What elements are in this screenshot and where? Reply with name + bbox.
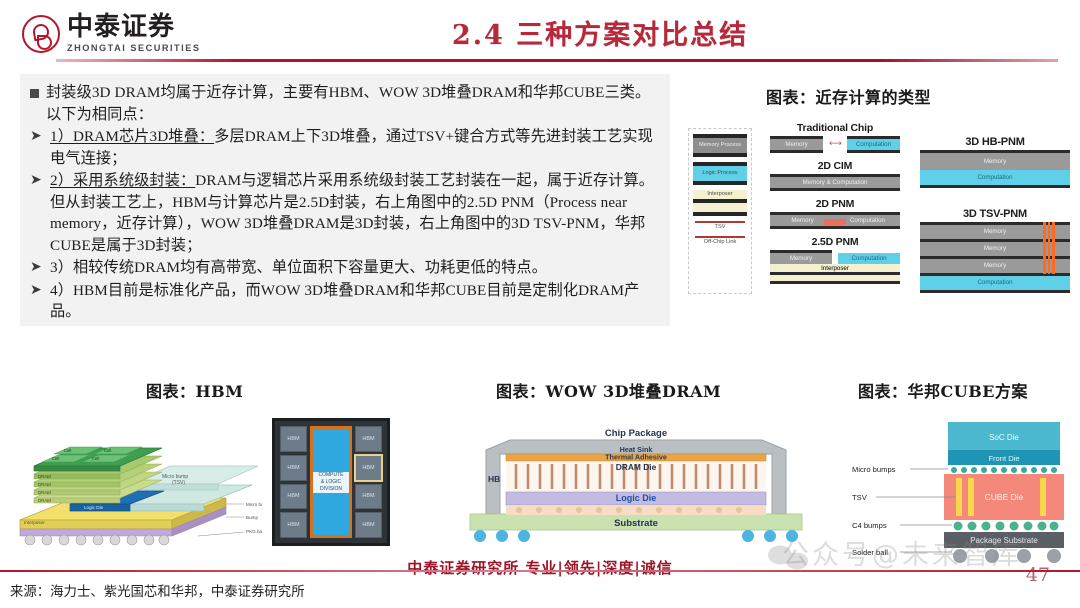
hbm-block: HBM: [355, 484, 382, 510]
hbm-3d-stack-illustration: Micro bump (TSV) Logic Die PHY die DRAM …: [12, 412, 262, 547]
cube-annotation-tsv: TSV: [852, 493, 868, 502]
wow-cross-section-svg: Chip Package Heat Sink Thermal Adhesive …: [464, 418, 808, 548]
cube-annotation-c4-bumps: C4 bumps: [852, 521, 887, 530]
cube-annotation-micro-bumps: Micro bumps: [852, 465, 896, 474]
list-item: ➤ 4）HBM目前是标准化产品，而WOW 3D堆叠DRAM和华邦CUBE目前是定…: [30, 280, 662, 323]
point-text: 4）HBM目前是标准化产品，而WOW 3D堆叠DRAM和华邦CUBE目前是定制化…: [50, 282, 639, 321]
square-bullet-icon: [30, 89, 39, 98]
page-number: 47: [1026, 564, 1050, 586]
cube-label-front-die: Front Die: [988, 454, 1019, 463]
figure-caption: 图表：近存计算的类型: [766, 84, 931, 108]
point-underline: 2）采用系统级封装：: [50, 172, 195, 189]
hbm-block: HBM: [280, 512, 307, 538]
summary-text-panel: 封装级3D DRAM均属于近存计算，主要有HBM、WOW 3D堆叠DRAM和华邦…: [20, 74, 670, 326]
point-underline: 1）DRAM芯片3D堆叠：: [50, 128, 214, 145]
hbm-core-inner: COMPUTE & LOGIC DIVISION: [313, 429, 349, 535]
block-title: 2D CIM: [770, 160, 900, 172]
figure-caption: 图表：WOW 3D堆叠DRAM: [496, 378, 721, 402]
hbm-column-right: HBM HBM HBM HBM: [355, 426, 382, 538]
wow-label-dram-die: DRAM Die: [616, 462, 657, 472]
legend-label: Interposer: [707, 191, 732, 198]
segment-label: Memory: [770, 139, 823, 150]
svg-text:Interposer: Interposer: [24, 520, 45, 525]
hbm-stack-svg: Micro bump (TSV) Logic Die PHY die DRAM …: [12, 412, 262, 547]
lead-bold-text: 封装级3D DRAM均属于近存计算，主要有HBM、WOW 3D堆叠DRAM和华邦…: [46, 84, 650, 101]
pnm-block-3d-hb-pnm: 3D HB-PNM Memory Computation: [920, 136, 1070, 188]
block-title: 3D TSV-PNM: [920, 208, 1070, 220]
svg-text:DRAM: DRAM: [38, 498, 51, 503]
cube-annotation-solder-ball: Solder ball: [852, 548, 888, 557]
pnm-column-right: 3D HB-PNM Memory Computation 3D TSV-PNM …: [920, 136, 1070, 300]
cube-cross-section: SoC Die Front Die CUBE Die: [848, 414, 1074, 564]
wow-label-chip-package: Chip Package: [605, 428, 667, 439]
pnm-legend: Memory Process Logic Process Interposer: [688, 128, 752, 294]
block-title: Traditional Chip: [770, 122, 900, 134]
legend-label: TSV: [693, 224, 747, 231]
lead-tail-text: 以下为相同点：: [46, 106, 153, 123]
pnm-diagram: Memory Process Logic Process Interposer: [684, 122, 1074, 302]
figure-caption: 图表：华邦CUBE方案: [858, 378, 1028, 402]
list-item: ➤ 3）相较传统DRAM均有高带宽、单位面积下容量更大、功耗更低的特点。: [30, 257, 662, 279]
legend-label: Off-Chip Link: [693, 239, 747, 246]
legend-item-memory-process: Memory Process: [693, 134, 747, 157]
core-label-compute: COMPUTE: [313, 472, 349, 479]
arrow-bullet-icon: ➤: [30, 126, 43, 146]
header-divider: [56, 59, 1058, 62]
legend-dark-bar: [693, 212, 747, 216]
legend-label: Memory Process: [699, 142, 741, 149]
svg-text:DRAM: DRAM: [38, 474, 51, 479]
slide-root: 中泰证券 ZHONGTAI SECURITIES 2.4 三种方案对比总结 封装…: [0, 0, 1080, 608]
hbm-compute-core: COMPUTE & LOGIC DIVISION: [310, 426, 352, 538]
figure-wow-3d-dram: 图表：WOW 3D堆叠DRAM: [448, 378, 828, 568]
legend-dark-bar: [693, 153, 747, 157]
hbm-block: HBM: [355, 512, 382, 538]
legend-label: Logic Process: [702, 170, 737, 177]
wow-label-substrate: Substrate: [614, 518, 658, 529]
cube-label-cube-die: CUBE Die: [985, 492, 1024, 502]
pnm-block-3d-tsv-pnm: 3D TSV-PNM Memory Memory Memory Computat…: [920, 208, 1070, 293]
list-item: 封装级3D DRAM均属于近存计算，主要有HBM、WOW 3D堆叠DRAM和华邦…: [30, 82, 662, 125]
svg-text:(TSV): (TSV): [172, 480, 185, 486]
hbm-block: HBM: [280, 426, 307, 452]
figure-cube: 图表：华邦CUBE方案 SoC Die Front Die: [840, 378, 1076, 568]
block-title: 2.5D PNM: [770, 236, 900, 248]
svg-text:Bump: Bump: [246, 515, 258, 520]
core-label-division: & LOGIC DIVISION: [313, 479, 349, 493]
figure-hbm: 图表：HBM Micr: [6, 378, 426, 568]
cube-label-soc-die: SoC Die: [989, 433, 1019, 442]
figure-caption: 图表：HBM: [146, 378, 243, 402]
hbm-column-left: HBM HBM HBM HBM: [280, 426, 307, 538]
arrow-bullet-icon: ➤: [30, 170, 43, 190]
legend-dark-bar: [693, 181, 747, 185]
footer-divider: [0, 570, 1080, 572]
pnm-block-2d-cim: 2D CIM Memory & Computation: [770, 160, 900, 191]
page-title: 2.4 三种方案对比总结: [0, 13, 1080, 52]
segment-label: Memory & Computation: [770, 177, 900, 188]
pnm-block-traditional-chip: Traditional Chip Memory ⟷ Computation: [770, 122, 900, 153]
legend-item-interposer: Interposer: [693, 190, 747, 216]
wow-cross-section: Chip Package Heat Sink Thermal Adhesive …: [464, 418, 808, 548]
internal-link-icon: [824, 219, 846, 225]
svg-text:Cell: Cell: [52, 456, 59, 461]
svg-text:PKG ball: PKG ball: [246, 529, 262, 534]
svg-text:Logic Die: Logic Die: [84, 505, 104, 510]
segment-label: Computation: [838, 253, 900, 264]
footer-slogan: 中泰证券研究所 专业|领先|深度|诚信: [0, 557, 1080, 578]
legend-item-logic-process: Logic Process: [693, 162, 747, 185]
block-title: 3D HB-PNM: [920, 136, 1070, 148]
svg-text:DRAM: DRAM: [38, 490, 51, 495]
segment-label: Memory: [770, 253, 832, 264]
svg-text:DRAM: DRAM: [38, 482, 51, 487]
offchip-line-icon: [695, 236, 745, 238]
legend-item-tsv: TSV: [693, 221, 747, 231]
segment-label: Computation: [920, 276, 1070, 290]
segment-label: Interposer: [821, 263, 849, 274]
segment-label: Computation: [847, 139, 900, 150]
point-text: 3）相较传统DRAM均有高带宽、单位面积下容量更大、功耗更低的特点。: [50, 259, 547, 276]
arrow-bullet-icon: ➤: [30, 280, 43, 300]
tsv-line-icon: [695, 221, 745, 223]
wow-label-thermal-adhesive: Thermal Adhesive: [605, 453, 667, 462]
pnm-block-2d-pnm: 2D PNM Memory Computation: [770, 198, 900, 229]
pnm-column-left: Traditional Chip Memory ⟷ Computation: [770, 122, 900, 291]
tsv-via-icon: [1043, 222, 1056, 274]
wow-label-logic-die: Logic Die: [616, 493, 657, 503]
wow-label-hb: HB: [488, 474, 500, 484]
hbm-block: HBM: [355, 426, 382, 452]
hbm-chip-floorplan: HBM HBM HBM HBM COMPUTE & LOGIC DIVISION…: [272, 418, 390, 546]
segment-label: Memory: [920, 153, 1070, 170]
hbm-block: HBM: [280, 484, 307, 510]
cube-label-package-substrate: Package Substrate: [970, 536, 1038, 545]
legend-cream-bar: [693, 203, 747, 212]
list-item: ➤ 2）采用系统级封装：DRAM与逻辑芯片采用系统级封装工艺封装在一起，属于近存…: [30, 170, 662, 256]
svg-text:Cell: Cell: [92, 456, 99, 461]
hbm-block-selected: HBM: [355, 455, 382, 481]
figure-pnm-types: 图表：近存计算的类型 Memory Process Logic Process …: [684, 84, 1074, 304]
link-arrow-icon: ⟷: [829, 139, 841, 150]
segment-label: Computation: [920, 170, 1070, 185]
pnm-block-25d-pnm: 2.5D PNM Memory Computation Interposer: [770, 236, 900, 284]
legend-item-offchip-link: Off-Chip Link: [693, 236, 747, 246]
block-title: 2D PNM: [770, 198, 900, 210]
svg-text:Cell: Cell: [104, 448, 111, 453]
list-item: ➤ 1）DRAM芯片3D堆叠：多层DRAM上下3D堆叠，通过TSV+键合方式等先…: [30, 126, 662, 169]
hbm-block: HBM: [280, 455, 307, 481]
cube-cross-section-svg: SoC Die Front Die CUBE Die: [848, 414, 1074, 564]
svg-text:Cell: Cell: [64, 448, 71, 453]
arrow-bullet-icon: ➤: [30, 257, 43, 277]
source-note: 来源：海力士、紫光国芯和华邦，中泰证券研究所: [10, 580, 305, 600]
svg-text:Micro ball: Micro ball: [246, 502, 262, 507]
